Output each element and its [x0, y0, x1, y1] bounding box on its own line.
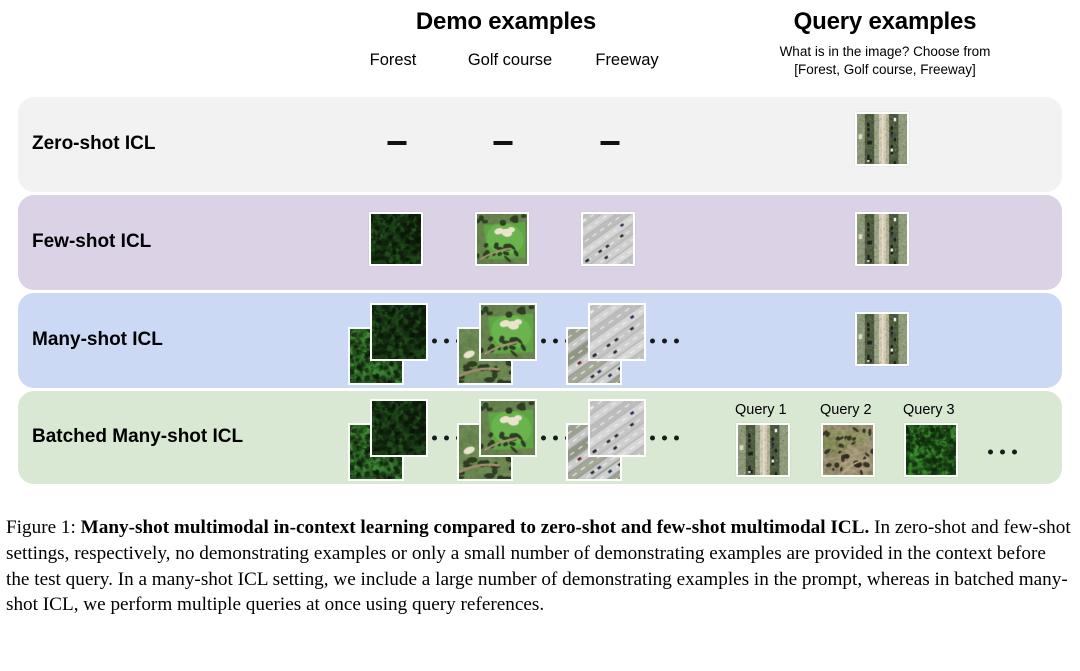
- caption-bold-title: Many-shot multimodal in-context learning…: [81, 517, 870, 538]
- demo-class-label-forest: Forest: [340, 51, 446, 70]
- demo-image-forest-front: [370, 303, 428, 361]
- row-label-few-shot: Few-shot ICL: [32, 231, 151, 253]
- query-image-3-forest: [904, 423, 958, 477]
- row-label-zero-shot: Zero-shot ICL: [32, 133, 156, 155]
- demo-image-forest: [369, 212, 423, 266]
- demo-image-forest-front: [370, 399, 428, 457]
- demo-image-stack-golf-course: [457, 399, 543, 483]
- query-prompt-line-2: [Forest, Golf course, Freeway]: [760, 61, 1010, 79]
- query-label-1: Query 1: [735, 402, 787, 418]
- demo-placeholder-dash-3: [601, 141, 620, 145]
- query-prompt-text: What is in the image? Choose from [Fores…: [760, 43, 1010, 79]
- query-label-2: Query 2: [820, 402, 872, 418]
- demo-placeholder-dash-2: [494, 141, 513, 145]
- query-image-2-scrub-field: [821, 423, 875, 477]
- demo-class-label-golf-course: Golf course: [457, 51, 563, 70]
- demo-image-stack-golf-course: [457, 303, 543, 387]
- demo-class-labels: Forest Golf course Freeway: [340, 51, 680, 70]
- demo-image-golf-front: [479, 303, 537, 361]
- query-examples-header: Query examples: [760, 8, 1010, 36]
- query-image-1-freeway: [736, 423, 790, 477]
- figure-container: Demo examples Query examples Forest Golf…: [0, 0, 1080, 671]
- row-label-many-shot: Many-shot ICL: [32, 329, 163, 351]
- demo-examples-header: Demo examples: [356, 8, 656, 36]
- demo-image-freeway: [581, 212, 635, 266]
- demo-class-label-freeway: Freeway: [574, 51, 680, 70]
- query-image-freeway: [855, 212, 909, 266]
- demo-ellipsis-3: [650, 436, 679, 441]
- demo-image-golf-course: [475, 212, 529, 266]
- demo-image-freeway-front: [588, 303, 646, 361]
- query-prompt-line-1: What is in the image? Choose from: [760, 43, 1010, 61]
- caption-prefix: Figure 1:: [6, 517, 81, 538]
- query-trailing-ellipsis: [988, 450, 1017, 455]
- demo-image-stack-forest: [348, 303, 434, 387]
- query-image-freeway: [855, 312, 909, 366]
- row-label-batched-many-shot: Batched Many-shot ICL: [32, 426, 243, 448]
- query-label-3: Query 3: [903, 402, 955, 418]
- demo-image-stack-freeway: [566, 303, 652, 387]
- demo-image-stack-freeway: [566, 399, 652, 483]
- demo-image-freeway-front: [588, 399, 646, 457]
- demo-image-stack-forest: [348, 399, 434, 483]
- query-image-freeway: [855, 112, 909, 166]
- demo-placeholder-dash-1: [388, 141, 407, 145]
- demo-ellipsis-3: [650, 339, 679, 344]
- figure-caption: Figure 1: Many-shot multimodal in-contex…: [6, 515, 1074, 618]
- demo-image-golf-front: [479, 399, 537, 457]
